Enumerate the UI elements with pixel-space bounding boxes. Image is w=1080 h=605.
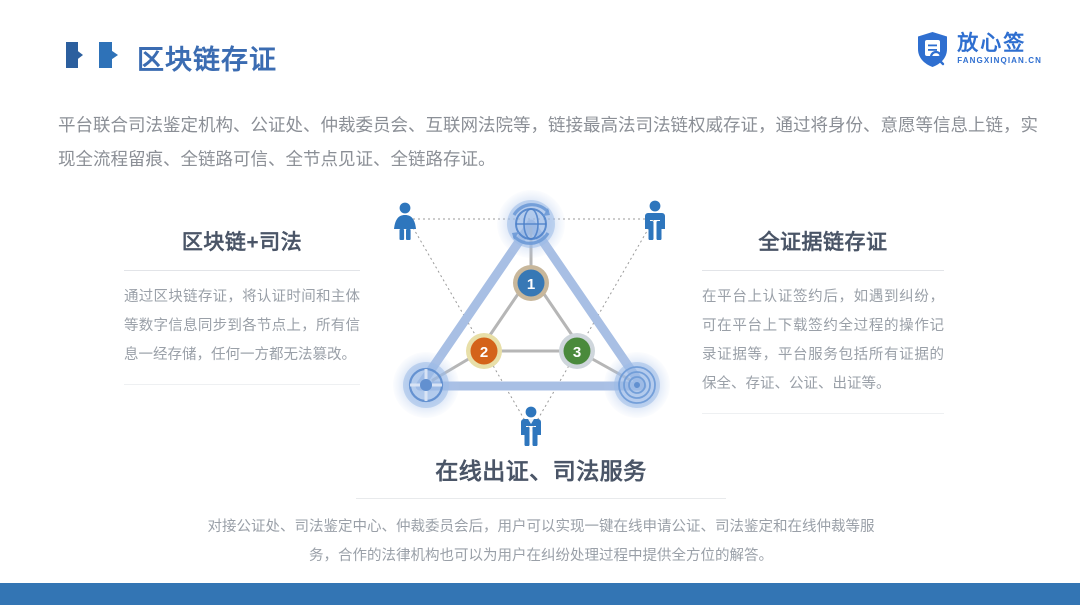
person-male-tie-icon <box>521 407 541 446</box>
card-title: 区块链+司法 <box>124 226 360 256</box>
node-3-label: 3 <box>573 344 581 361</box>
card-title: 全证据链存证 <box>702 226 944 256</box>
card-body: 通过区块链存证，将认证时间和主体等数字信息同步到各节点上，所有信息一经存储，任何… <box>124 283 360 370</box>
person-female-icon <box>394 203 416 240</box>
logo-name-cn: 放心签 <box>957 33 1042 54</box>
title-arrows <box>66 42 136 68</box>
divider <box>356 498 726 499</box>
divider <box>702 413 944 414</box>
slide: 区块链存证 放心签 FANGXINQIAN.CN 平台联合司法鉴定机构、公证处、… <box>0 0 1080 605</box>
slide-header: 区块链存证 放心签 FANGXINQIAN.CN <box>0 0 1080 96</box>
footer-bar <box>0 583 1080 605</box>
divider <box>124 384 360 385</box>
card-title: 在线出证、司法服务 <box>196 452 886 486</box>
card-online-certification: 在线出证、司法服务 对接公证处、司法鉴定中心、仲裁委员会后，用户可以实现一键在线… <box>196 452 886 586</box>
intro-paragraph: 平台联合司法鉴定机构、公证处、仲裁委员会、互联网法院等，链接最高法司法链权威存证… <box>58 108 1038 176</box>
network-node-icon <box>393 352 459 418</box>
divider <box>702 270 944 271</box>
card-blockchain-justice: 区块链+司法 通过区块链存证，将认证时间和主体等数字信息同步到各节点上，所有信息… <box>124 226 360 385</box>
node-3: 3 <box>559 333 595 369</box>
brand-logo: 放心签 FANGXINQIAN.CN <box>916 28 1042 70</box>
divider <box>124 270 360 271</box>
page-title: 区块链存证 <box>137 38 277 77</box>
node-1: 1 <box>513 265 549 301</box>
arrow-right-icon <box>99 42 118 68</box>
card-full-evidence-chain: 全证据链存证 在平台上认证签约后，如遇到纠纷，可在平台上下载签约全过程的操作记录… <box>702 226 944 414</box>
node-1-label: 1 <box>527 276 535 293</box>
node-2: 2 <box>466 333 502 369</box>
blockchain-network-diagram: 1 2 3 <box>378 188 684 454</box>
arrow-right-icon <box>66 42 83 68</box>
logo-name-en: FANGXINQIAN.CN <box>957 57 1042 65</box>
person-male-icon <box>645 201 665 240</box>
globe-sync-icon <box>497 190 565 258</box>
card-body: 在平台上认证签约后，如遇到纠纷，可在平台上下载签约全过程的操作记录证据等，平台服… <box>702 283 944 399</box>
shield-document-icon <box>916 31 949 68</box>
card-body: 对接公证处、司法鉴定中心、仲裁委员会后，用户可以实现一键在线申请公证、司法鉴定和… <box>196 513 886 571</box>
logo-wordmark: 放心签 FANGXINQIAN.CN <box>957 33 1042 65</box>
node-2-label: 2 <box>480 344 488 361</box>
inner-triangle-link <box>488 294 574 351</box>
radar-target-icon <box>604 352 670 418</box>
